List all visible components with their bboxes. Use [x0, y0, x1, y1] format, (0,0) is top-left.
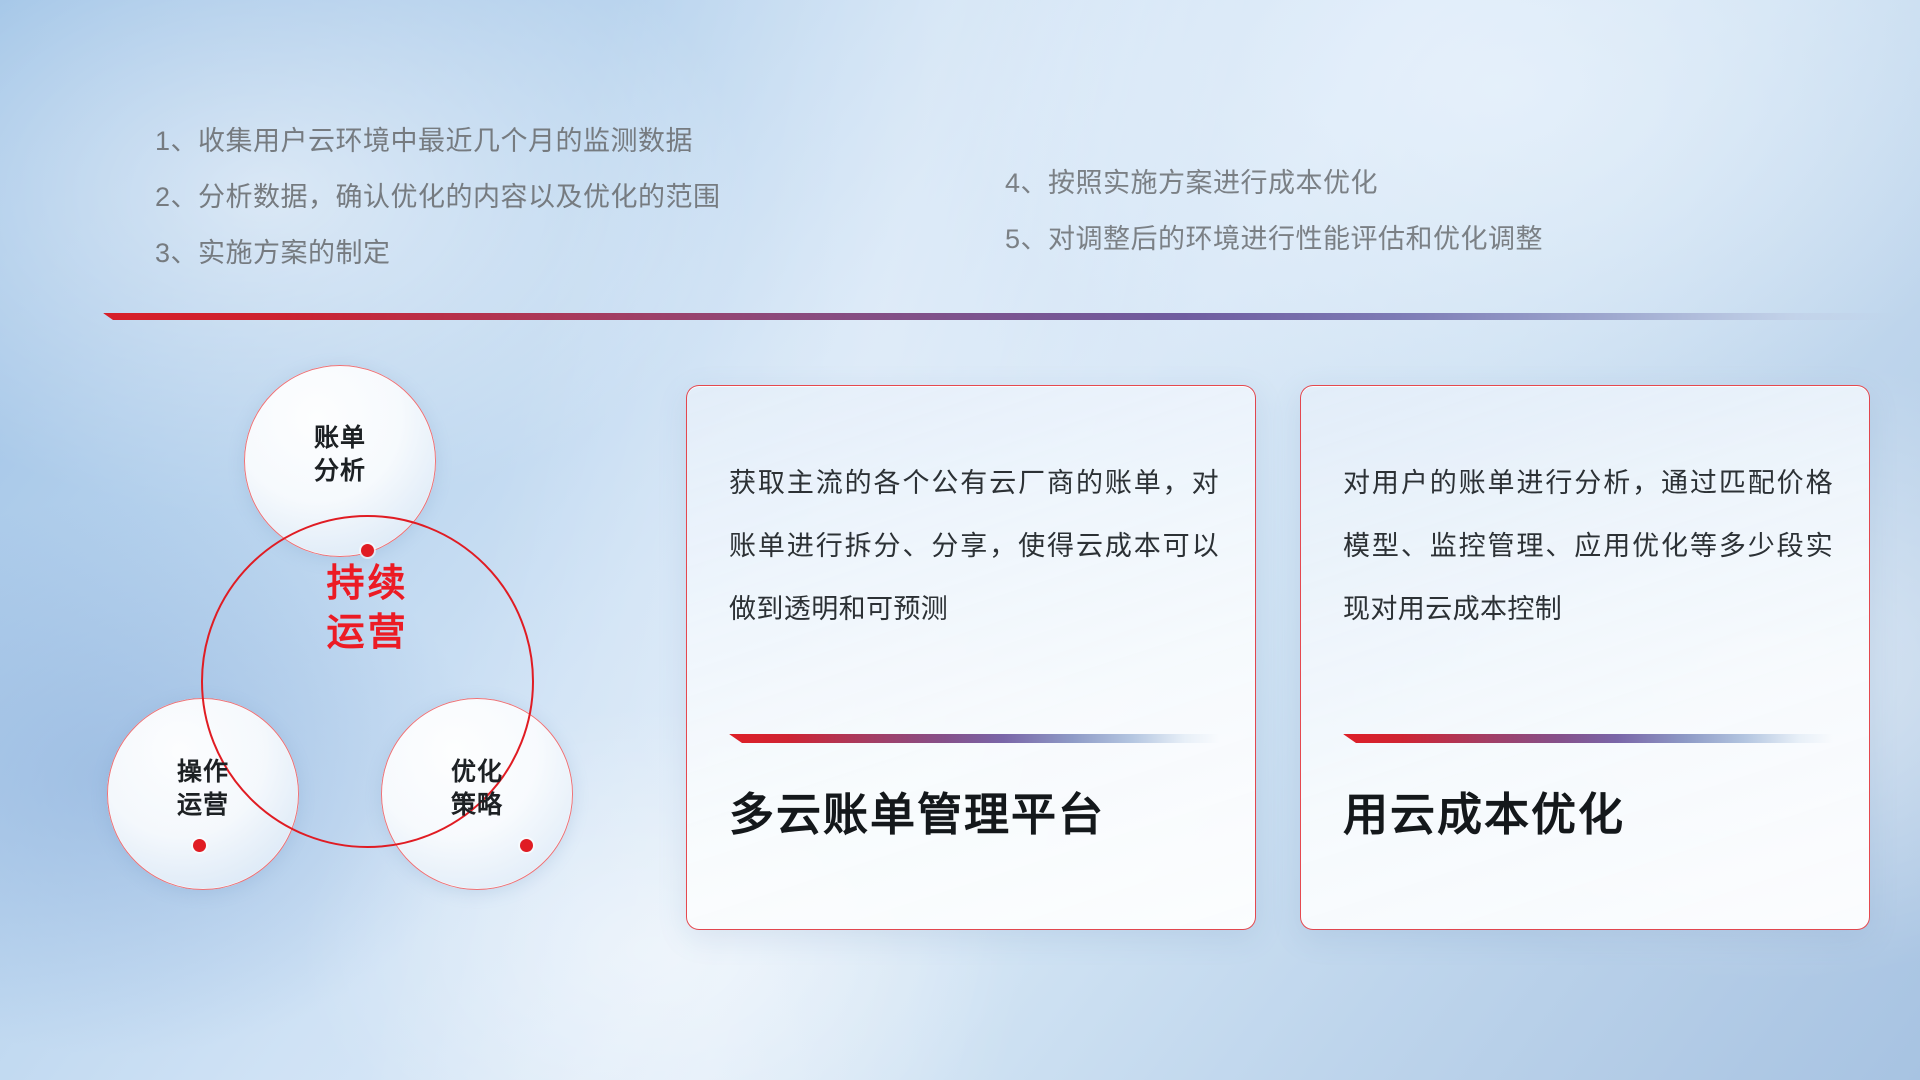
- circle-label-line-2: 分析: [244, 455, 436, 488]
- feature-card-cost-optimization[interactable]: 对用户的账单进行分析，通过匹配价格模型、监控管理、应用优化等多少段实现对用云成本…: [1300, 385, 1870, 930]
- center-label-line-1: 持续: [201, 560, 534, 609]
- step-item-4: 4、按照实施方案进行成本优化: [1005, 155, 1543, 211]
- circle-label-line-2: 运营: [107, 789, 299, 822]
- circle-label-line-1: 操作: [107, 756, 299, 789]
- circle-label-optimization: 优化 策略: [381, 756, 573, 822]
- card-title: 用云成本优化: [1343, 784, 1625, 846]
- card-divider: [729, 734, 1219, 743]
- card-title: 多云账单管理平台: [729, 784, 1105, 846]
- venn-diagram: 账单 分析 操作 运营 优化 策略 持续 运营: [96, 352, 636, 932]
- feature-card-multicloud-billing[interactable]: 获取主流的各个公有云厂商的账单，对账单进行拆分、分享，使得云成本可以做到透明和可…: [686, 385, 1256, 930]
- node-dot-left: [193, 839, 206, 852]
- card-divider: [1343, 734, 1833, 743]
- circle-label-bill-analysis: 账单 分析: [244, 422, 436, 488]
- step-item-5: 5、对调整后的环境进行性能评估和优化调整: [1005, 211, 1543, 267]
- node-dot-right: [520, 839, 533, 852]
- card-body-text: 对用户的账单进行分析，通过匹配价格模型、监控管理、应用优化等多少段实现对用云成本…: [1343, 452, 1833, 641]
- step-item-2: 2、分析数据，确认优化的内容以及优化的范围: [155, 169, 721, 225]
- circle-label-operations: 操作 运营: [107, 756, 299, 822]
- section-divider: [103, 313, 1903, 320]
- diagram-center-label: 持续 运营: [201, 560, 534, 658]
- step-item-1: 1、收集用户云环境中最近几个月的监测数据: [155, 113, 721, 169]
- circle-label-line-1: 优化: [381, 756, 573, 789]
- steps-list-left: 1、收集用户云环境中最近几个月的监测数据 2、分析数据，确认优化的内容以及优化的…: [155, 113, 721, 281]
- circle-label-line-1: 账单: [244, 422, 436, 455]
- node-dot-top: [361, 544, 374, 557]
- center-label-line-2: 运营: [201, 609, 534, 658]
- step-item-3: 3、实施方案的制定: [155, 225, 721, 281]
- steps-list-right: 4、按照实施方案进行成本优化 5、对调整后的环境进行性能评估和优化调整: [1005, 155, 1543, 267]
- card-body-text: 获取主流的各个公有云厂商的账单，对账单进行拆分、分享，使得云成本可以做到透明和可…: [729, 452, 1219, 641]
- circle-label-line-2: 策略: [381, 789, 573, 822]
